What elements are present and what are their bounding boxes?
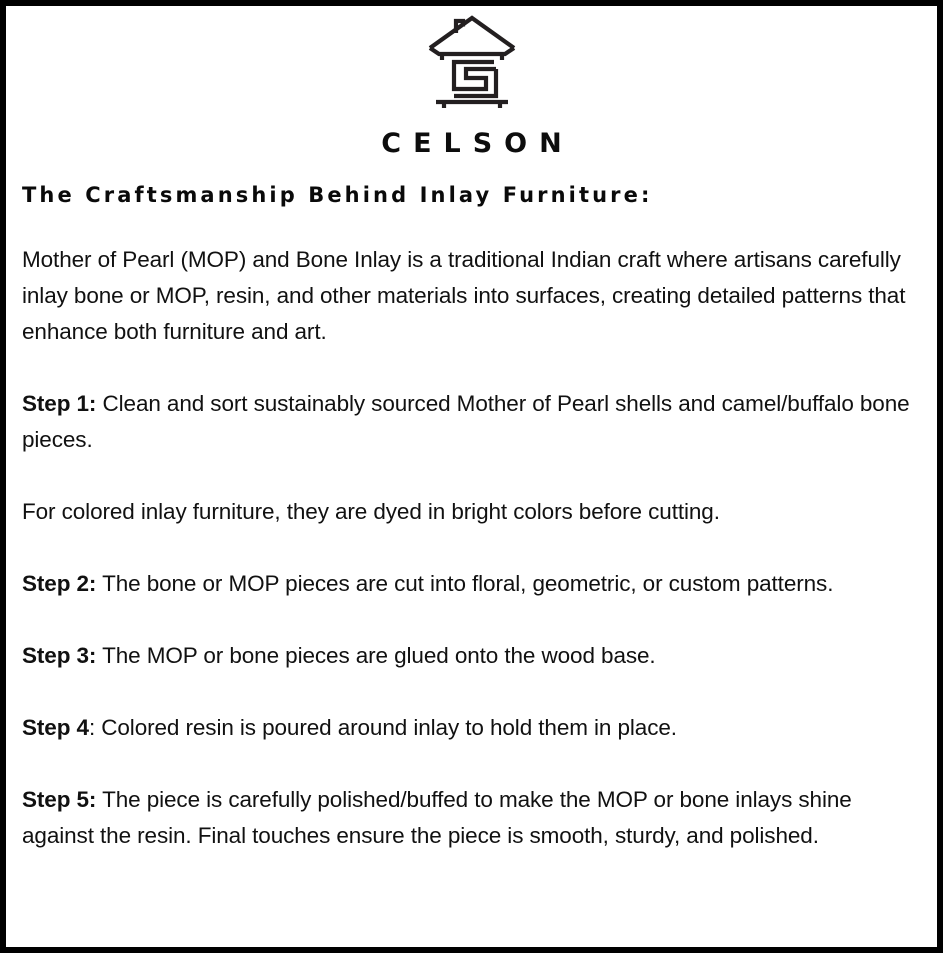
paragraph-step-3-label: Step 3: — [22, 643, 96, 668]
house-monogram-icon — [426, 14, 518, 114]
paragraph-step-2: Step 2: The bone or MOP pieces are cut i… — [22, 566, 923, 602]
paragraph-step-2-text: The bone or MOP pieces are cut into flor… — [96, 571, 833, 596]
paragraph-step-5-label: Step 5: — [22, 787, 96, 812]
paragraph-step-1-text: Clean and sort sustainably sourced Mothe… — [22, 391, 910, 452]
paragraph-colored-note: For colored inlay furniture, they are dy… — [22, 494, 923, 530]
paragraph-step-1-label: Step 1: — [22, 391, 96, 416]
paragraph-step-5-text: The piece is carefully polished/buffed t… — [22, 787, 852, 848]
paragraph-step-4: Step 4: Colored resin is poured around i… — [22, 710, 923, 746]
paragraph-colored-note-text: For colored inlay furniture, they are dy… — [22, 499, 720, 524]
paragraph-intro-text: Mother of Pearl (MOP) and Bone Inlay is … — [22, 247, 905, 344]
paragraph-step-2-label: Step 2: — [22, 571, 96, 596]
paragraph-step-3: Step 3: The MOP or bone pieces are glued… — [22, 638, 923, 674]
content-body: The Craftsmanship Behind Inlay Furniture… — [6, 183, 937, 854]
paragraph-step-4-text: : Colored resin is poured around inlay t… — [89, 715, 677, 740]
paragraph-step-5: Step 5: The piece is carefully polished/… — [22, 782, 923, 854]
brand-name: CELSON — [6, 130, 937, 157]
brand-block: CELSON — [6, 6, 937, 157]
paragraph-step-4-label: Step 4 — [22, 715, 89, 740]
page-title: The Craftsmanship Behind Inlay Furniture… — [22, 183, 923, 208]
paragraph-intro: Mother of Pearl (MOP) and Bone Inlay is … — [22, 242, 923, 350]
paragraph-step-1: Step 1: Clean and sort sustainably sourc… — [22, 386, 923, 458]
poster-frame: CELSON The Craftsmanship Behind Inlay Fu… — [0, 0, 943, 953]
paragraph-step-3-text: The MOP or bone pieces are glued onto th… — [96, 643, 655, 668]
